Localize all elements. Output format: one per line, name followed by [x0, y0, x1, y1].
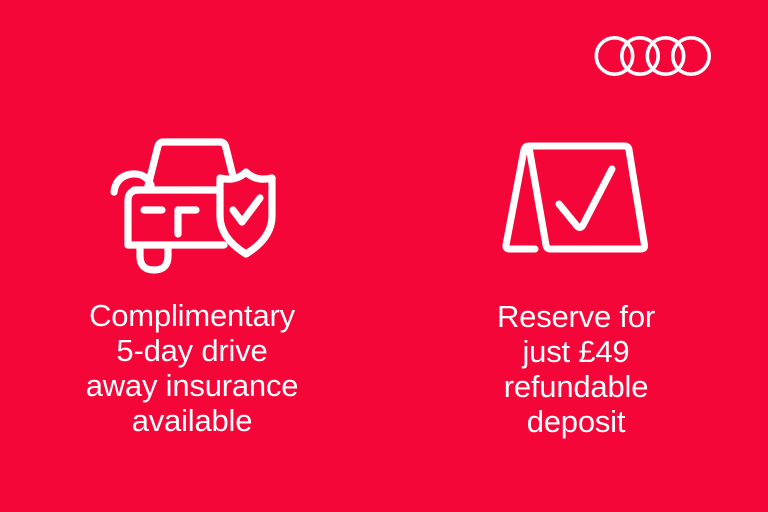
feature-text-line: away insurance	[86, 368, 299, 403]
feature-text-insurance: Complimentary 5-day drive away insurance…	[86, 298, 299, 438]
feature-item-insurance: Complimentary 5-day drive away insurance…	[0, 0, 384, 438]
feature-text-deposit: Reserve for just £49 refundable deposit	[497, 299, 655, 439]
feature-item-deposit: Reserve for just £49 refundable deposit	[384, 0, 768, 439]
car-shield-icon	[106, 138, 278, 260]
tent-card-check-icon	[501, 137, 651, 259]
feature-text-line: deposit	[497, 404, 655, 439]
feature-text-line: 5-day drive	[86, 333, 299, 368]
feature-text-line: refundable	[497, 369, 655, 404]
feature-text-line: just £49	[497, 334, 655, 369]
feature-text-line: Reserve for	[497, 299, 655, 334]
feature-text-line: available	[86, 403, 299, 438]
feature-text-line: Complimentary	[86, 298, 299, 333]
feature-columns: Complimentary 5-day drive away insurance…	[0, 0, 768, 512]
promo-banner: Complimentary 5-day drive away insurance…	[0, 0, 768, 512]
